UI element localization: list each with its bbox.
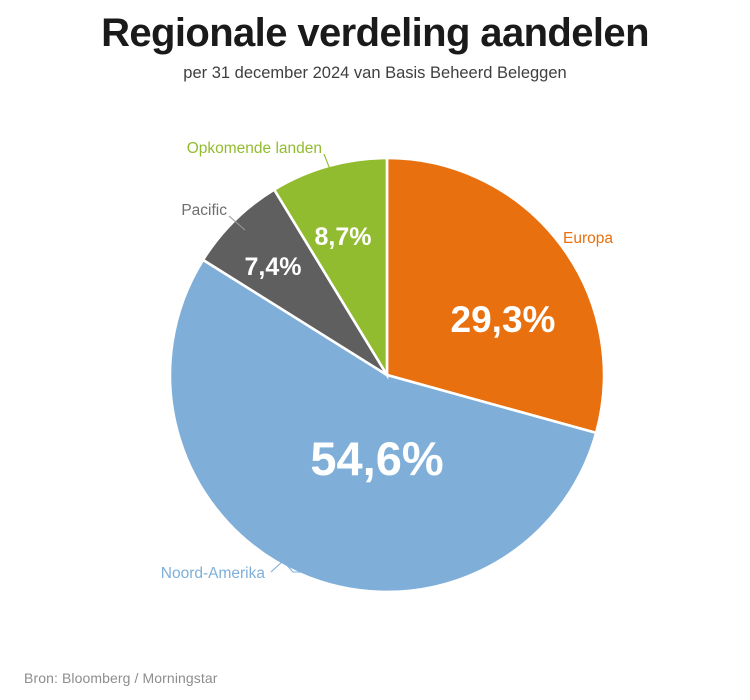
pie-label-noord-amerika: Noord-Amerika [161,565,266,582]
pie-value-noord-amerika: 54,6% [310,432,443,485]
chart-title: Regionale verdeling aandelen [0,0,750,56]
pie-label-opkomende-landen: Opkomende landen [187,140,322,157]
pie-plot-area: 29,3% 54,6% 7,4% 8,7% Europa Noord-Ameri… [0,120,750,620]
source-note: Bron: Bloomberg / Morningstar [24,670,218,686]
chart-header: Regionale verdeling aandelen per 31 dece… [0,0,750,84]
chart-subtitle: per 31 december 2024 van Basis Beheerd B… [0,56,750,84]
pie-value-europa: 29,3% [451,299,556,340]
pie-label-europa: Europa [563,230,613,247]
pie-svg: 29,3% 54,6% 7,4% 8,7% Europa Noord-Ameri… [0,120,750,620]
pie-value-opkomende-landen: 8,7% [315,223,372,251]
pie-chart-figure: Regionale verdeling aandelen per 31 dece… [0,0,750,700]
pie-label-pacific: Pacific [181,202,227,219]
pie-value-pacific: 7,4% [245,253,302,281]
